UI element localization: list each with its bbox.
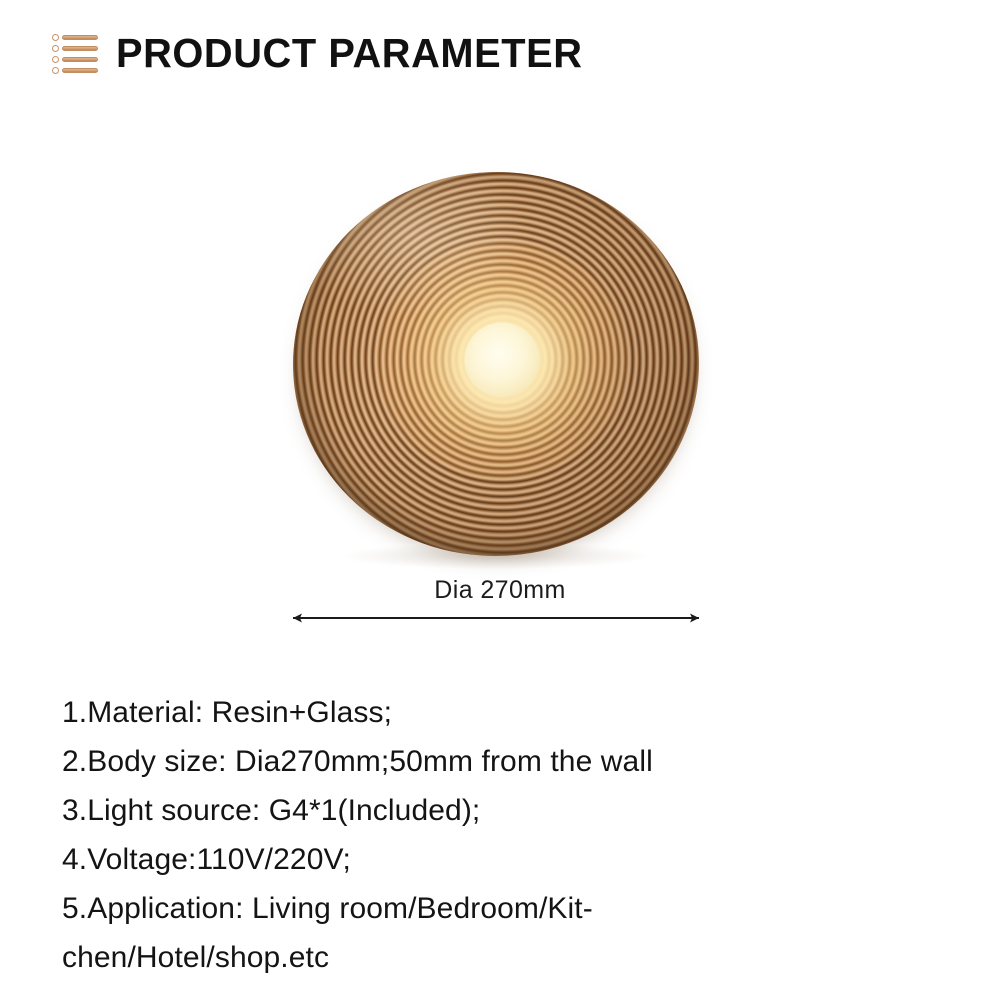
list-icon-bar <box>62 57 98 62</box>
list-icon-bullet <box>52 45 59 52</box>
list-icon-bar <box>62 68 98 73</box>
list-icon-bullet <box>52 67 59 74</box>
spec-item-body-size: 2.Body size: Dia270mm;50mm from the wall <box>62 737 942 786</box>
list-icon-bar <box>62 35 98 40</box>
spec-item-material: 1.Material: Resin+Glass; <box>62 688 942 737</box>
list-icon-row <box>52 45 98 52</box>
page-header: PRODUCT PARAMETER <box>52 32 597 74</box>
spec-item-application: 5.Application: Living room/Bedroom/Kit- <box>62 884 942 933</box>
list-icon-bar <box>62 46 98 51</box>
spec-item-light-source: 3.Light source: G4*1(Included); <box>62 786 942 835</box>
product-image <box>284 165 708 565</box>
list-icon-bullet <box>52 34 59 41</box>
list-icon-bullet <box>52 56 59 63</box>
list-icon <box>52 32 98 74</box>
wall-lamp-disc <box>288 167 704 561</box>
dimension-arrow <box>291 608 701 628</box>
lamp-concentric-ridges <box>288 167 704 561</box>
specification-list: 1.Material: Resin+Glass; 2.Body size: Di… <box>62 688 942 982</box>
list-icon-row <box>52 67 98 74</box>
list-icon-row <box>52 34 98 41</box>
page-title: PRODUCT PARAMETER <box>116 33 583 74</box>
dimension-label: Dia 270mm <box>0 576 1000 605</box>
spec-item-application-continued: chen/Hotel/shop.etc <box>62 933 942 982</box>
spec-item-voltage: 4.Voltage:110V/220V; <box>62 835 942 884</box>
list-icon-row <box>52 56 98 63</box>
